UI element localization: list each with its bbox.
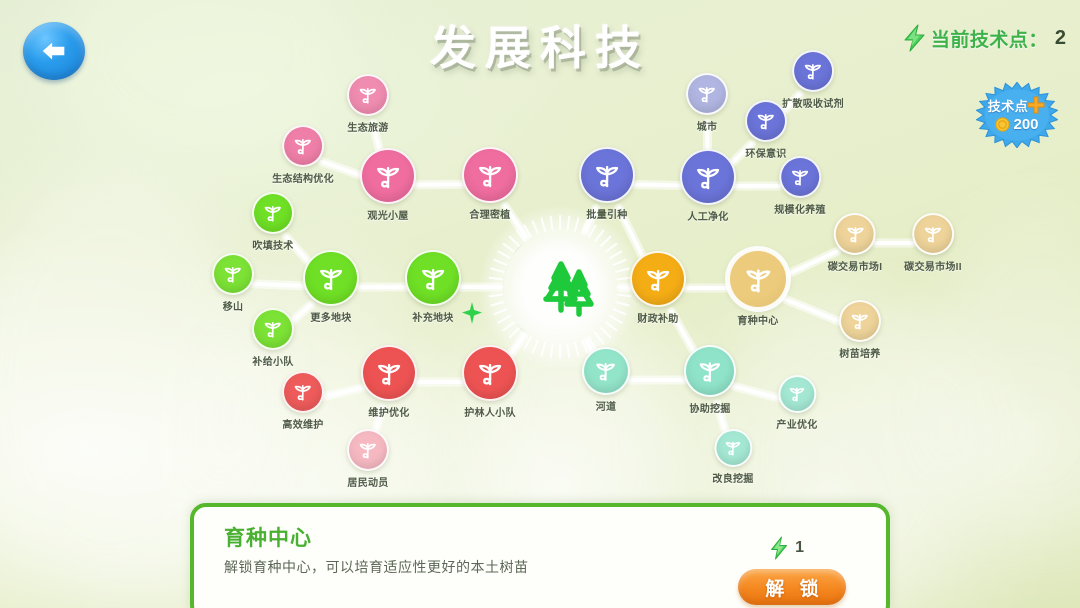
tech-node-disc (282, 125, 324, 167)
buy-tech-point-badge[interactable]: 技术点 200 (976, 82, 1058, 148)
tech-node-disc (728, 249, 788, 309)
tech-node-label: 高效维护 (282, 416, 323, 431)
tech-detail-description: 解锁育种中心，可以培育适应性更好的本土树苗 (224, 557, 529, 577)
sprout-icon (356, 83, 380, 107)
sparkle-icon (459, 300, 485, 326)
tech-node-disc (792, 50, 834, 92)
tech-node-disc (582, 347, 630, 395)
tech-node-label: 维护优化 (368, 404, 409, 419)
tech-node-label: 护林人小队 (464, 404, 516, 419)
sprout-icon (801, 59, 825, 83)
tech-node-disc (912, 213, 954, 255)
tech-node-shumiao-peiyang[interactable]: 树苗培养 (839, 300, 881, 360)
tech-node-disc (834, 213, 876, 255)
tech-node-label: 扩散吸收试剂 (782, 95, 844, 110)
tech-link (634, 185, 681, 186)
tech-node-jumin-dongyuan[interactable]: 居民动员 (347, 429, 389, 489)
tech-point-value: 2 (1055, 27, 1066, 50)
sprout-icon (692, 161, 724, 193)
badge-bottom-row: 200 (995, 116, 1038, 133)
sprout-icon (786, 383, 807, 404)
lightning-bolt-icon (902, 24, 928, 52)
tech-node-disc (282, 371, 324, 413)
tech-node-label: 协助挖掘 (689, 400, 730, 415)
tech-node-label: 树苗培养 (839, 345, 880, 360)
tech-link (253, 284, 304, 286)
tech-node-weihu-youhua[interactable]: 维护优化 (361, 345, 417, 419)
sprout-icon (642, 263, 674, 295)
tech-node-yishan[interactable]: 移山 (212, 253, 254, 313)
back-arrow-icon (39, 36, 69, 66)
tech-node-disc (347, 429, 389, 471)
sprout-icon (754, 109, 778, 133)
tech-node-label: 规模化养殖 (774, 201, 826, 216)
tech-node-label: 吹填技术 (252, 237, 293, 252)
badge-coin-amount: 200 (1013, 116, 1038, 133)
tech-node-guimohua-yangzhi[interactable]: 规模化养殖 (774, 156, 826, 216)
tech-node-label: 移山 (223, 298, 244, 313)
tech-node-caizheng-buzhu[interactable]: 财政补助 (630, 251, 686, 325)
sprout-icon (221, 262, 245, 286)
sprout-icon (372, 160, 404, 192)
unlock-button-label: 解 锁 (760, 574, 823, 601)
back-button[interactable] (23, 22, 85, 80)
tech-node-disc (252, 192, 294, 234)
tech-node-disc (778, 375, 816, 413)
crescent-moon-forest-icon (499, 226, 621, 348)
tech-node-disc (630, 251, 686, 307)
tech-node-huanbao-yishi[interactable]: 环保意识 (745, 100, 787, 160)
tech-cost: 1 (769, 536, 804, 560)
lightning-bolt-icon (769, 536, 789, 560)
plus-icon (1026, 95, 1046, 115)
sprout-icon (788, 165, 812, 189)
sprout-icon (417, 262, 449, 294)
badge-starburst-shape (976, 82, 1058, 148)
tech-node-disc (212, 253, 254, 295)
tech-node-disc (839, 300, 881, 342)
coin-icon (995, 117, 1010, 132)
center-node-forest[interactable] (485, 212, 635, 362)
tech-node-label: 碳交易市场II (904, 258, 962, 273)
sprout-icon (843, 222, 867, 246)
tech-node-label: 生态结构优化 (272, 170, 334, 185)
tech-node-chengshi[interactable]: 城市 (686, 73, 728, 133)
tech-node-label: 批量引种 (586, 206, 627, 221)
page-title: 发展科技 (430, 12, 650, 78)
tech-node-tanjiaoyi-1[interactable]: 碳交易市场I (828, 213, 883, 273)
tech-node-disc (684, 345, 736, 397)
sprout-icon (592, 357, 619, 384)
sprout-icon (373, 357, 405, 389)
tech-node-xiezhu-wajue[interactable]: 协助挖掘 (684, 345, 736, 415)
tech-node-label: 产业优化 (776, 416, 817, 431)
tech-node-shengtai-jiegou[interactable]: 生态结构优化 (272, 125, 334, 185)
tech-node-disc (680, 149, 736, 205)
sprout-icon (291, 380, 315, 404)
tech-node-piliang-yinzhong[interactable]: 批量引种 (579, 147, 635, 221)
tech-node-tanjiaoyi-2[interactable]: 碳交易市场II (904, 213, 962, 273)
sprout-icon (848, 309, 872, 333)
tech-node-label: 居民动员 (347, 474, 388, 489)
sprout-icon (261, 317, 285, 341)
tech-node-disc (405, 250, 461, 306)
tech-node-disc (252, 308, 294, 350)
sprout-icon (722, 437, 743, 458)
tech-node-disc (462, 147, 518, 203)
tech-node-yuzhong-zhongxin[interactable]: 育种中心 (728, 249, 788, 327)
tech-node-disc (360, 148, 416, 204)
tech-node-gaoxiao-weihu[interactable]: 高效维护 (282, 371, 324, 431)
tech-node-label: 补充地块 (412, 309, 453, 324)
tech-node-disc (686, 73, 728, 115)
tech-node-buji-xiaodui[interactable]: 补给小队 (252, 308, 294, 368)
tech-node-label: 城市 (697, 118, 718, 133)
tech-node-label: 更多地块 (310, 309, 351, 324)
tech-node-label: 财政补助 (637, 310, 678, 325)
tech-node-disc (361, 345, 417, 401)
tech-node-label: 合理密植 (469, 206, 510, 221)
tech-node-chuitian-jishu[interactable]: 吹填技术 (252, 192, 294, 252)
tech-node-disc (347, 74, 389, 116)
tech-node-guanguang-xiaowu[interactable]: 观光小屋 (360, 148, 416, 222)
tech-cost-value: 1 (795, 539, 804, 557)
tech-node-disc (303, 250, 359, 306)
tech-node-disc (462, 345, 518, 401)
sprout-icon (695, 82, 719, 106)
tech-node-gengduo-dikuai[interactable]: 更多地块 (303, 250, 359, 324)
sprout-icon (261, 201, 285, 225)
badge-top-row: 技术点 (988, 95, 1047, 115)
tech-node-label: 生态旅游 (347, 119, 388, 134)
tech-node-heli-mizhi[interactable]: 合理密植 (462, 147, 518, 221)
sprout-icon (921, 222, 945, 246)
tech-detail-panel: 育种中心 解锁育种中心，可以培育适应性更好的本土树苗 1 解 锁 (190, 503, 890, 608)
tech-node-label: 改良挖掘 (712, 470, 753, 485)
sprout-icon (356, 438, 380, 462)
sprout-icon (474, 159, 506, 191)
tech-node-label: 人工净化 (687, 208, 728, 223)
tech-node-hedao[interactable]: 河道 (582, 347, 630, 413)
sprout-icon (474, 357, 506, 389)
tech-node-buchong-dikuai[interactable]: 补充地块 (405, 250, 461, 324)
tech-node-liangliang-wajue[interactable]: 改良挖掘 (712, 429, 753, 485)
tech-node-disc (579, 147, 635, 203)
tech-detail-title: 育种中心 (224, 522, 312, 552)
unlock-button[interactable]: 解 锁 (738, 569, 846, 605)
tech-node-label: 碳交易市场I (828, 258, 883, 273)
sprout-icon (291, 134, 315, 158)
sprout-icon (315, 262, 347, 294)
tech-point-display: 当前技术点： 2 (902, 24, 1066, 52)
tech-node-hulinren-xiaodui[interactable]: 护林人小队 (462, 345, 518, 419)
tech-point-label: 当前技术点： (931, 25, 1048, 52)
sprout-icon (741, 262, 776, 297)
tech-link (785, 299, 842, 322)
tech-node-label: 观光小屋 (367, 207, 408, 222)
badge-label: 技术点 (988, 96, 1029, 115)
tech-node-label: 育种中心 (737, 312, 778, 327)
tech-node-disc (779, 156, 821, 198)
tech-node-rengong-jinghua[interactable]: 人工净化 (680, 149, 736, 223)
sprout-icon (591, 159, 623, 191)
tech-node-disc (745, 100, 787, 142)
tech-node-disc (714, 429, 752, 467)
tech-node-chanye-youhua[interactable]: 产业优化 (776, 375, 817, 431)
tech-node-label: 河道 (596, 398, 617, 413)
sprout-icon (695, 356, 725, 386)
tech-node-label: 补给小队 (252, 353, 293, 368)
tech-node-kuosan-xishou[interactable]: 扩散吸收试剂 (782, 50, 844, 110)
tech-node-shengtai-lvyou[interactable]: 生态旅游 (347, 74, 389, 134)
